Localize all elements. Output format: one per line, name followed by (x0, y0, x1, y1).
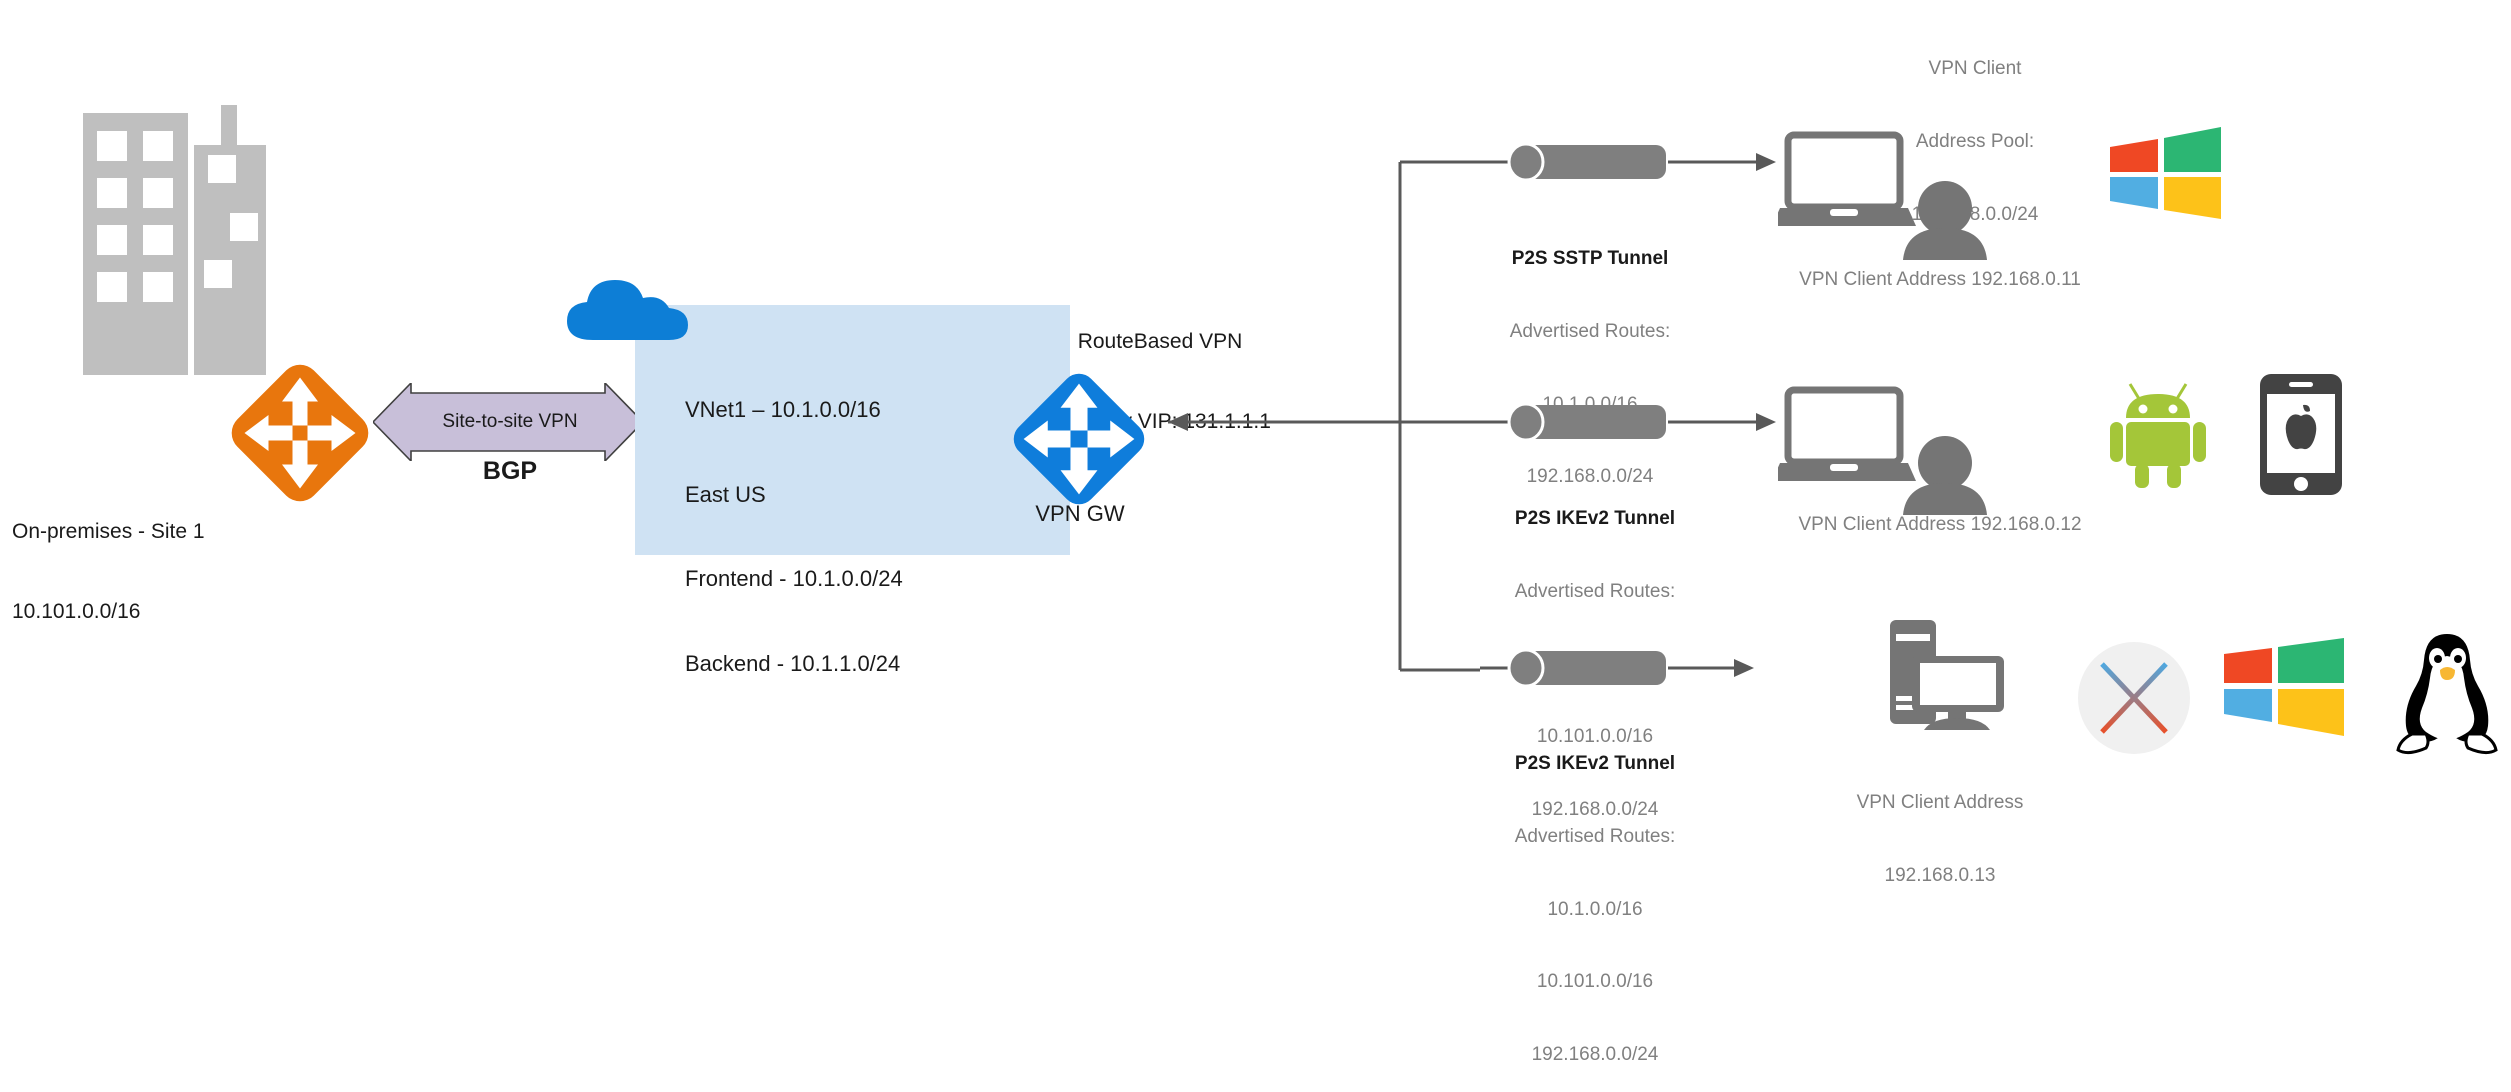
tunnel-graphic-3 (1480, 648, 1910, 688)
cloud-icon (565, 272, 690, 344)
windows-logo-icon-3 (2222, 638, 2347, 738)
tunnel-title-1: P2S SSTP Tunnel (1450, 247, 1730, 271)
tunnel-label-3: P2S IKEv2 Tunnel Advertised Routes: 10.1… (1450, 703, 1740, 1092)
office-building-icon (75, 105, 275, 375)
vpn-client-address-3-line2: 192.168.0.13 (1790, 864, 2090, 888)
vpn-gateway-caption: VPN GW (1005, 500, 1155, 528)
onprem-label: On-premises - Site 1 10.101.0.0/16 (12, 465, 205, 653)
tunnel-routes-label-1: Advertised Routes: (1450, 320, 1730, 344)
vnet-line-1: East US (685, 481, 903, 509)
tunnel-title-2: P2S IKEv2 Tunnel (1450, 507, 1740, 531)
vnet-line-2: Frontend - 10.1.0.0/24 (685, 565, 903, 593)
tunnel-routes-label-3: Advertised Routes: (1450, 825, 1740, 849)
osx-logo-icon (2076, 640, 2192, 756)
onprem-label-line1: On-premises - Site 1 (12, 519, 205, 546)
laptop-user-icon-1 (1778, 130, 1993, 260)
tunnel-route-3-1: 10.101.0.0/16 (1450, 970, 1740, 994)
pool-line1: VPN Client (1850, 57, 2100, 81)
vpn-client-address-3-line1: VPN Client Address (1790, 791, 2090, 815)
vnet-details: VNet1 – 10.1.0.0/16 East US Frontend - 1… (685, 340, 903, 706)
vnet-line-3: Backend - 10.1.1.0/24 (685, 650, 903, 678)
tunnel-title-3: P2S IKEv2 Tunnel (1450, 752, 1740, 776)
vnet-line-0: VNet1 – 10.1.0.0/16 (685, 396, 903, 424)
tunnel-route-3-2: 192.168.0.0/24 (1450, 1043, 1740, 1067)
vpn-gateway-icon (1008, 368, 1150, 510)
linux-tux-icon (2392, 630, 2502, 758)
router-icon (225, 358, 375, 508)
android-logo-icon (2108, 378, 2208, 488)
laptop-user-icon-2 (1778, 385, 1993, 515)
vpn-client-address-2: VPN Client Address 192.168.0.12 (1790, 513, 2090, 537)
tunnel-route-3-0: 10.1.0.0/16 (1450, 898, 1740, 922)
tunnel-routes-label-2: Advertised Routes: (1450, 580, 1740, 604)
site-to-site-vpn-label: Site-to-site VPN (420, 410, 600, 434)
windows-logo-icon-1 (2108, 125, 2223, 220)
iphone-apple-logo-icon (2258, 372, 2344, 497)
bgp-label: BGP (400, 455, 620, 487)
desktop-tower-icon (1888, 612, 2028, 732)
onprem-label-line2: 10.101.0.0/16 (12, 599, 205, 626)
vpn-client-address-3: VPN Client Address 192.168.0.13 (1790, 742, 2090, 912)
gateway-tunnel-connector (1150, 150, 1480, 710)
vpn-client-address-1: VPN Client Address 192.168.0.11 (1790, 268, 2090, 292)
